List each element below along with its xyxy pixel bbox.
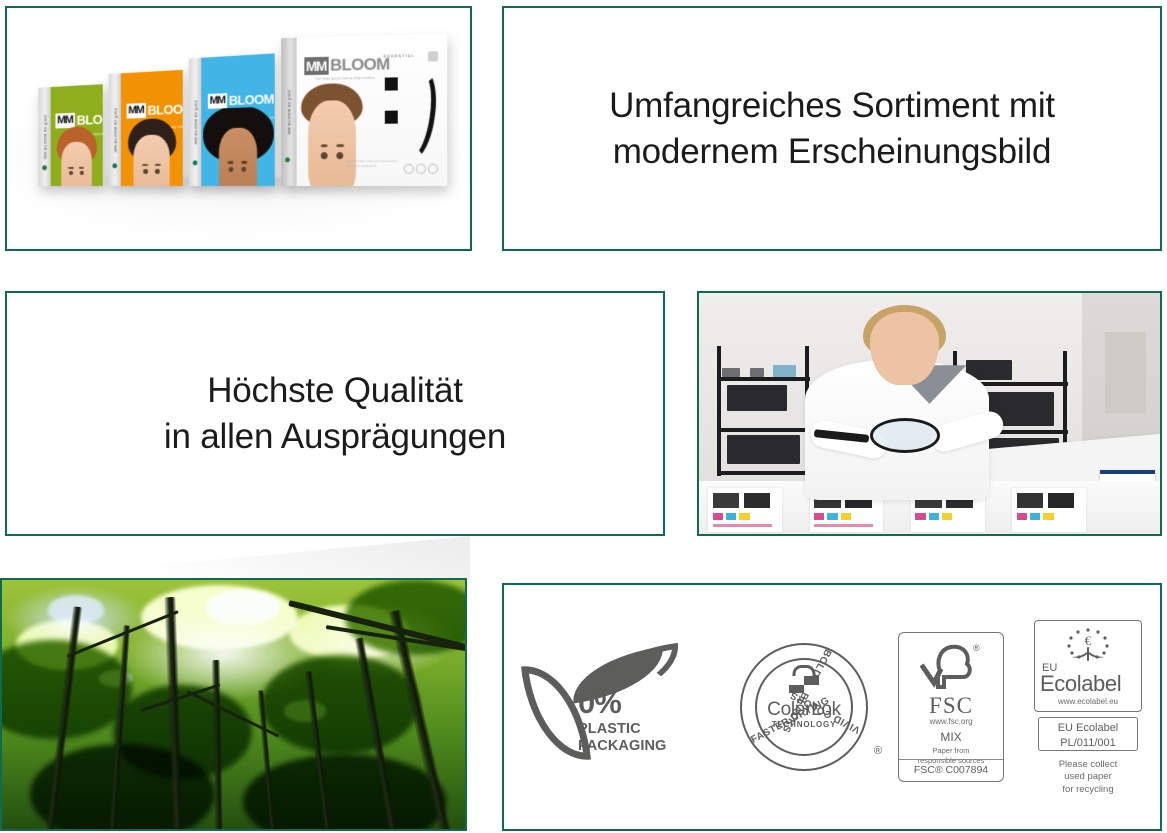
box-3-brow-left (228, 162, 234, 164)
recycling-note-line-3: for recycling (1034, 784, 1142, 797)
plastic-free-logo-cell: 0% PLASTIC PACKAGING (522, 647, 710, 767)
box-4-eye-right (337, 153, 343, 160)
box-2-spine-text: MM BLOOM 80 g/m2 (112, 108, 117, 153)
box-2-spine-dot (112, 163, 117, 168)
box-3-brow-right (241, 161, 247, 163)
proof-swatch-dark-2 (744, 493, 771, 509)
box-3-spine: MM BLOOM 80 g/m2 (189, 58, 202, 186)
lab-equipment-left-1 (727, 385, 787, 412)
eu-ecolabel-wordmark: Ecolabel (1040, 671, 1121, 697)
paper-ream-box-1: MM BLOOM 80 g/m2 MM BLOOM The eco-friend… (38, 85, 102, 187)
box-3-bloom-wordmark: BLOOM (229, 92, 274, 107)
ecolabel-logo-cell: € EU Ecolabel www.ecolabel.eu EU Ecolabe… (1034, 620, 1142, 795)
proof-swatch-cyan-1 (726, 513, 736, 520)
proof-swatch-dark-1 (713, 493, 740, 509)
lab-bottle-left-3 (773, 365, 796, 377)
lab-equipment-left-2 (727, 435, 801, 464)
product-boxes-scene: MM BLOOM 80 g/m2 MM BLOOM The eco-friend… (7, 8, 470, 249)
colorlok-logo-cell: FASTER DRYING BOLDER BLACKS VIVID COLORS… (740, 643, 868, 771)
box-4-face: MM BLOOM ESSENTIAL The fast good every-d… (297, 34, 448, 186)
recycling-note: Please collect used paper for recycling (1034, 759, 1142, 797)
eu-ecolabel-code-line-2: PL/011/001 (1039, 736, 1137, 751)
eu-ecolabel-icon: € EU Ecolabel www.ecolabel.eu EU Ecolabe… (1034, 620, 1142, 795)
fsc-tree-checkmark-icon: ® (920, 641, 982, 693)
forest-photo-panel (0, 578, 467, 831)
product-range-photo-panel: MM BLOOM 80 g/m2 MM BLOOM The eco-friend… (5, 6, 472, 251)
box-1-skin (61, 141, 92, 186)
box-3-portrait (201, 107, 275, 187)
proof-swatch-yellow-2 (841, 513, 851, 520)
plastic-free-packaging-icon: 0% PLASTIC PACKAGING (522, 647, 710, 767)
proof-swatch-dark-8 (1048, 493, 1075, 509)
box-1-brow-right (79, 167, 84, 169)
magnifier-icon (870, 418, 941, 453)
recycling-note-line-1: Please collect (1034, 759, 1142, 772)
lab-shelf-post-left-1 (717, 346, 721, 476)
fsc-url: www.fsc.org (899, 717, 1003, 726)
box-2-skin (133, 135, 170, 186)
paper-ream-box-4: MM BLOOM 80 g/m2 MM BLOOM ESSENTIAL The … (281, 34, 447, 186)
proof-swatch-bar-2 (814, 524, 873, 527)
lab-shelf-bar-left-1 (717, 377, 809, 381)
assortment-headline-line-1: Umfangreiches Sortiment mit (530, 82, 1134, 128)
quality-headline-line-1: Höchste Qualität (33, 367, 637, 413)
box-3-spine-text: MM BLOOM 80 g/m2 (193, 100, 198, 144)
fsc-wordmark: FSC (899, 693, 1003, 719)
box-2-portrait (121, 117, 183, 187)
box-4-portrait (297, 81, 368, 186)
box-3-eye-right (241, 167, 246, 172)
box-2-eye-left (143, 170, 148, 174)
proof-swatch-magenta-4 (1017, 513, 1027, 520)
box-1-spine: MM BLOOM 80 g/m2 (38, 87, 51, 186)
recycling-note-line-2: used paper (1034, 771, 1142, 784)
box-3-spine-dot (192, 161, 197, 166)
box-2-brow-left (142, 165, 148, 167)
lab-shelf-bar-left-2 (717, 428, 809, 432)
lock-checker-1 (789, 676, 804, 685)
box-2-eye-right (155, 170, 160, 174)
proof-swatch-yellow-3 (942, 513, 952, 520)
box-1-eye-right (79, 172, 83, 176)
box-4-skin (309, 100, 356, 186)
plastic-free-caption-line-2: PACKAGING (578, 738, 666, 755)
paper-ream-box-3: MM BLOOM 80 g/m2 MM BLOOM The best perfo… (189, 54, 275, 187)
smiley-face-icon (381, 62, 436, 160)
box-3-mm-mark: MM (208, 93, 227, 109)
proof-swatch-yellow-1 (739, 513, 749, 520)
proof-swatch-cyan-3 (929, 513, 939, 520)
box-4-mm-mark: MM (304, 57, 328, 75)
fsc-certification-icon: ® FSC www.fsc.org MIX Paper from respons… (898, 632, 1004, 782)
box-3-eye-left (229, 167, 234, 172)
proof-swatch-cyan-4 (1030, 513, 1040, 520)
smiley-mouth-arc (394, 67, 442, 162)
box-1-portrait (51, 125, 103, 186)
plastic-free-caption: PLASTIC PACKAGING (578, 721, 666, 755)
forest-scene (2, 580, 465, 829)
lab-technician-head (870, 312, 939, 384)
box-1-spine-text: MM BLOOM 80 g/m2 (42, 115, 47, 160)
box-4-spine: MM BLOOM 80 g/m2 (281, 38, 297, 186)
colorlok-registered-mark: ® (874, 745, 882, 757)
assortment-headline-line-2: modernem Erscheinungsbild (530, 129, 1134, 175)
lab-scene (699, 293, 1160, 534)
lock-checker-2 (804, 685, 819, 694)
quality-headline-line-2: in allen Ausprägungen (33, 414, 637, 460)
box-2-face: MM BLOOM The high-yield everyday choice (121, 70, 183, 186)
box-4-fineprint: Paper for laser, inkjet and copy printin… (346, 159, 402, 168)
box-4-brow-left (320, 145, 327, 148)
box-2-spine: MM BLOOM 80 g/m2 (109, 74, 122, 187)
box-1-face: MM BLOOM The eco-friendly choice (51, 85, 103, 187)
fsc-logo-cell: ® FSC www.fsc.org MIX Paper from respons… (898, 632, 1004, 782)
colorlok-wordmark: ColorLok (740, 699, 868, 721)
box-4-cert-icon-1 (404, 164, 414, 174)
box-2-brow-right (155, 164, 161, 166)
box-2-bloom-wordmark: BLOOM (148, 103, 183, 118)
plastic-free-percent: 0% (578, 687, 621, 718)
box-4-certification-icons (404, 164, 438, 174)
decorative-diagonal-shadow (0, 536, 470, 580)
fsc-licence-code: FSC® C007894 (899, 759, 1003, 776)
proof-swatch-dark-7 (1017, 493, 1044, 509)
box-4-cert-icon-2 (416, 164, 426, 174)
proof-sheet-1 (708, 488, 782, 531)
quality-lab-photo-panel (697, 291, 1162, 536)
quality-headline-panel: Höchste Qualität in allen Ausprägungen (5, 291, 665, 536)
proof-swatch-magenta-3 (915, 513, 925, 520)
lab-wall-panel (1105, 332, 1146, 414)
lab-shelf-bar-left-3 (717, 471, 809, 475)
paper-ream-box-2: MM BLOOM 80 g/m2 MM BLOOM The high-yield… (109, 70, 183, 186)
eu-ecolabel-code-line-1: EU Ecolabel (1039, 721, 1137, 736)
quality-headline: Höchste Qualität in allen Ausprägungen (7, 367, 663, 459)
proof-swatch-magenta-2 (814, 513, 824, 520)
box-1-eye-left (69, 172, 73, 176)
lab-bottle-left-2 (750, 368, 764, 378)
lock-body (789, 676, 819, 693)
proof-swatch-magenta-1 (713, 513, 723, 520)
box-4-eye-left (321, 153, 327, 160)
certifications-panel: 0% PLASTIC PACKAGING FASTER DRYING BOLDE… (502, 583, 1162, 831)
colorlok-technology-icon: FASTER DRYING BOLDER BLACKS VIVID COLORS… (740, 643, 868, 771)
plastic-free-caption-line-1: PLASTIC (578, 721, 666, 738)
proof-swatch-yellow-4 (1043, 513, 1053, 520)
fsc-claim-label: MIX (899, 730, 1003, 744)
box-4-spine-text: MM BLOOM 80 g/m2 (287, 90, 292, 135)
box-1-spine-dot (42, 166, 47, 171)
box-4-brow-right (336, 145, 344, 148)
certification-logos-row: 0% PLASTIC PACKAGING FASTER DRYING BOLDE… (504, 585, 1160, 829)
assortment-headline-panel: Umfangreiches Sortiment mit modernem Ers… (502, 6, 1162, 251)
eu-ecolabel-url: www.ecolabel.eu (1035, 697, 1141, 706)
proof-swatch-bar-1 (713, 524, 772, 527)
box-4-spine-dot (285, 158, 290, 163)
svg-text:®: ® (973, 643, 980, 653)
leaf-cluster-3 (261, 655, 418, 755)
box-4-variant-label: ESSENTIAL (383, 53, 414, 59)
box-4-cert-icon-3 (428, 164, 438, 174)
lab-bottle-left-1 (722, 368, 740, 378)
box-3-skin (218, 128, 256, 186)
assortment-headline: Umfangreiches Sortiment mit modernem Ers… (504, 82, 1160, 174)
box-4-corner-mark (428, 51, 438, 61)
proof-sheet-4 (1012, 488, 1086, 531)
lock-icon (789, 665, 819, 693)
box-3-face: MM BLOOM The best performing business ch… (201, 54, 275, 187)
eu-ecolabel-frame: € EU Ecolabel www.ecolabel.eu (1034, 620, 1142, 712)
eu-ecolabel-licence-box: EU Ecolabel PL/011/001 (1038, 717, 1138, 751)
box-1-brow-left (69, 167, 74, 169)
eu-euro-symbol: € (1085, 633, 1092, 649)
smiley-eye-bottom (385, 111, 398, 124)
colorlok-technology-label: TECHNOLOGY (740, 720, 868, 729)
smiley-eye-top (385, 78, 398, 91)
fsc-description-line-1: Paper from (899, 746, 1003, 756)
proof-swatch-cyan-2 (827, 513, 837, 520)
